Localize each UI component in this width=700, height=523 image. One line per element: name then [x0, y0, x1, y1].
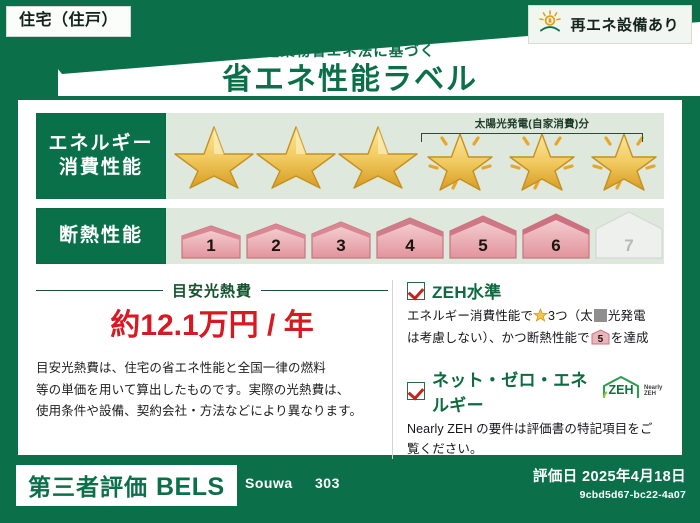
bracket-line — [421, 133, 643, 142]
mini-insulation-badge-icon: 5 — [591, 329, 610, 351]
rule-left — [36, 290, 163, 291]
svg-text:ZEH: ZEH — [609, 383, 634, 397]
utility-cost-note: 目安光熱費は、住宅の省エネ性能と全国一律の燃料 等の単価を用いて算出したものです… — [36, 358, 388, 423]
utility-cost-panel: 目安光熱費 約12.1万円 / 年 目安光熱費は、住宅の省エネ性能と全国一律の燃… — [36, 278, 388, 461]
net-zero-energy-title: ネット・ゼロ・エネルギー — [432, 366, 589, 416]
solar-bracket-label: 太陽光発電(自家消費)分 — [421, 116, 643, 131]
check-icon[interactable] — [407, 282, 425, 300]
solar-generation-bracket: 太陽光発電(自家消費)分 — [421, 119, 643, 145]
evaluation-date: 評価日 2025年4月18日 — [533, 465, 686, 486]
redacted-char — [594, 309, 607, 322]
zeh-standard-item: ZEH水準 エネルギー消費性能で3つ（太光発電 は考慮しない）、かつ断熱性能で5… — [407, 278, 664, 352]
insulation-badge: 5 — [448, 215, 518, 259]
evaluation-date-value: 2025年4月18日 — [582, 469, 686, 485]
zeh-body-line2a: は考慮しない）、かつ断熱性能で — [407, 331, 590, 345]
insulation-badge-number: 1 — [180, 236, 242, 256]
insulation-badge-number: 6 — [521, 236, 591, 256]
sun-icon — [537, 10, 563, 39]
net-zero-body-line-1: Nearly ZEH の要件は評価書の特記項目をご — [407, 419, 664, 439]
energy-label-line2: 消費性能 — [59, 156, 143, 180]
bels-evaluation-badge: 第三者評価 BELS — [16, 465, 237, 506]
insulation-badge-number: 2 — [245, 236, 307, 256]
insulation-badge-inactive: 7 — [594, 211, 664, 259]
zeh-body-mid2: 光発電 — [608, 309, 646, 323]
renewable-equipment-chip: 再エネ設備あり — [528, 5, 692, 44]
evaluation-date-label: 評価日 — [533, 469, 578, 485]
svg-text:ZEH: ZEH — [644, 391, 656, 397]
header-block: 建築物省エネ法に基づく 省エネ性能ラベル — [0, 40, 700, 98]
evaluator-name: Souwa — [245, 475, 293, 491]
check-icon[interactable] — [407, 382, 425, 400]
star-filled — [256, 120, 336, 192]
insulation-performance-label: 断熱性能 — [36, 208, 166, 264]
net-zero-energy-header: ネット・ゼロ・エネルギー ZEH Nearly ZEH — [407, 366, 664, 416]
utility-cost-value: 約12.1万円 / 年 — [36, 309, 388, 342]
star-filled — [338, 120, 418, 192]
net-zero-energy-item: ネット・ゼロ・エネルギー ZEH Nearly ZEH Nearly ZEH の… — [407, 366, 664, 460]
third-party-evaluation-label: 第三者評価 — [28, 468, 148, 502]
insulation-rating-body: 1 2 3 — [166, 208, 664, 264]
rule-right — [261, 290, 388, 291]
utility-cost-heading: 目安光熱費 — [36, 280, 388, 301]
certification-panel: ZEH水準 エネルギー消費性能で3つ（太光発電 は考慮しない）、かつ断熱性能で5… — [405, 278, 664, 461]
evaluation-date-block: 評価日 2025年4月18日 9cbd5d67-bc22-4a07 — [533, 465, 686, 501]
dwelling-type-chip: 住宅（住戸） — [6, 6, 131, 37]
zeh-standard-header: ZEH水準 — [407, 278, 664, 303]
svg-text:5: 5 — [597, 334, 603, 345]
energy-rating-body: 太陽光発電(自家消費)分 — [166, 113, 664, 199]
cost-note-line-3: 使用条件や設備、契約会社・方法などにより異なります。 — [36, 401, 388, 423]
zeh-body-pre: エネルギー消費性能で — [407, 309, 533, 323]
net-zero-energy-body: Nearly ZEH の要件は評価書の特記項目をご 覧ください。 — [407, 419, 664, 460]
energy-performance-row: エネルギー 消費性能 — [36, 113, 664, 199]
cost-note-line-2: 等の単価を用いて算出したものです。実際の光熱費は、 — [36, 380, 388, 402]
insulation-badge: 4 — [375, 217, 445, 259]
energy-performance-label: エネルギー 消費性能 — [36, 113, 166, 199]
energy-label-line1: エネルギー — [48, 132, 153, 156]
insulation-badge-number: 5 — [448, 236, 518, 256]
insulation-badge-list: 1 2 3 — [166, 213, 664, 259]
zeh-standard-body: エネルギー消費性能で3つ（太光発電 は考慮しない）、かつ断熱性能で5を達成 — [407, 306, 664, 352]
evaluator-info: Souwa 303 — [245, 475, 340, 491]
insulation-performance-row: 断熱性能 1 — [36, 208, 664, 264]
insulation-badge: 2 — [245, 223, 307, 259]
dwelling-type-label: 住宅（住戸） — [19, 12, 118, 29]
zeh-house-logo-icon: ZEH Nearly ZEH — [600, 374, 664, 407]
label-card: エネルギー 消費性能 — [18, 100, 682, 455]
evaluator-code: 303 — [315, 475, 340, 491]
renewable-equipment-label: 再エネ設備あり — [570, 14, 679, 35]
insulation-badge: 3 — [310, 221, 372, 259]
insulation-badge: 1 — [180, 225, 242, 259]
cost-note-line-1: 目安光熱費は、住宅の省エネ性能と全国一律の燃料 — [36, 358, 388, 380]
lower-section: 目安光熱費 約12.1万円 / 年 目安光熱費は、住宅の省エネ性能と全国一律の燃… — [18, 278, 682, 461]
zeh-standard-title: ZEH水準 — [432, 278, 502, 303]
insulation-badge-number: 7 — [594, 236, 664, 256]
insulation-badge: 6 — [521, 213, 591, 259]
zeh-body-line2b: を達成 — [611, 331, 649, 345]
page-title: 省エネ性能ラベル — [0, 63, 700, 98]
utility-cost-heading-text: 目安光熱費 — [172, 280, 252, 301]
insulation-badge-number: 3 — [310, 236, 372, 256]
bels-logo-text: BELS — [156, 473, 225, 502]
footer: 第三者評価 BELS Souwa 303 評価日 2025年4月18日 9cbd… — [0, 455, 700, 523]
star-filled — [174, 120, 254, 192]
insulation-label-text: 断熱性能 — [59, 224, 143, 248]
evaluation-uid: 9cbd5d67-bc22-4a07 — [533, 489, 686, 501]
insulation-badge-number: 4 — [375, 236, 445, 256]
panel-divider — [392, 280, 393, 459]
mini-star-icon — [533, 308, 548, 328]
zeh-body-mid1: 3つ（太 — [548, 309, 593, 323]
